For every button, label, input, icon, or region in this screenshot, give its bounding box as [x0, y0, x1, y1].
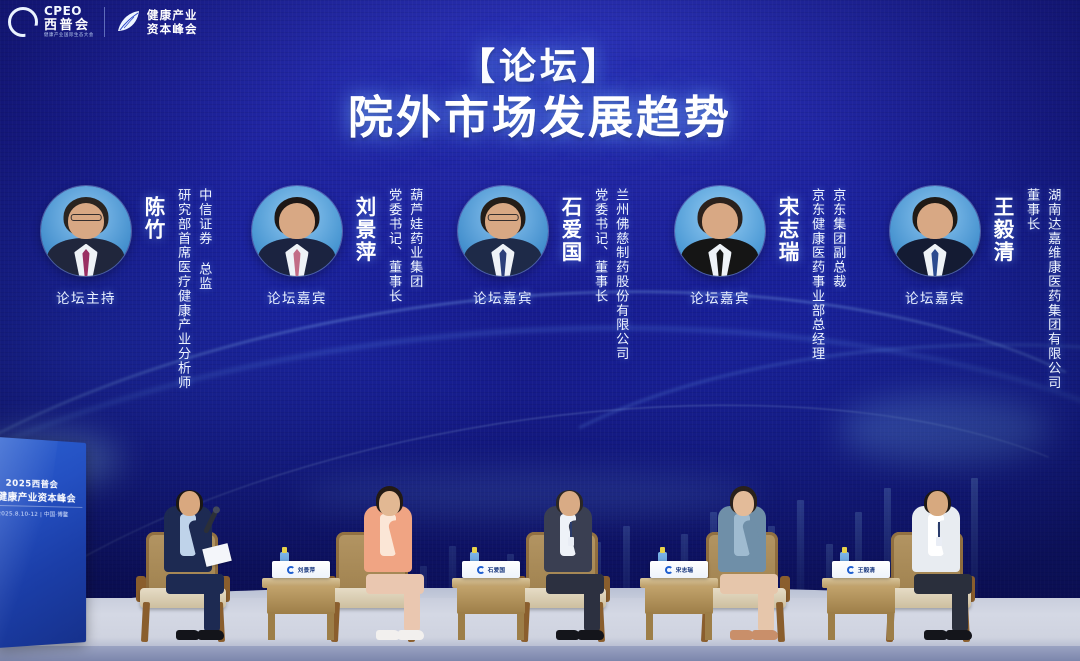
person-head	[927, 491, 948, 516]
panelist-portrait-block: 论坛嘉宾	[887, 186, 983, 307]
nameplate-name: 刘景萍	[298, 566, 315, 574]
panelist-title-line: 党委书记、董事长	[590, 188, 609, 361]
logo-summit-line1: 健康产业	[147, 8, 198, 22]
panelist-title-line: 兰州佛慈制药股份有限公司	[611, 188, 630, 361]
panelist-titles: 兰州佛慈制药股份有限公司党委书记、董事长	[588, 188, 630, 361]
panelist-portrait-block: 论坛主持	[38, 186, 134, 307]
logo-cpeo: CPEO 西普会 健康产业国际生态大会	[8, 5, 94, 38]
speaker-podium: 2025西普会 健康产业资本峰会 2025.8.10-12 | 中国·博鳌	[0, 440, 88, 645]
person-head	[179, 491, 200, 516]
person-shoe	[730, 630, 754, 640]
person-head	[559, 491, 580, 516]
person-shoe	[924, 630, 948, 640]
person-shin	[758, 590, 774, 632]
person-shoe	[752, 630, 778, 640]
person-shin	[952, 590, 968, 632]
panelist-title-line: 葫芦娃药业集团	[405, 188, 424, 303]
panelist-card-list: 论坛主持 陈竹 中信证券 总监研究部首席医疗健康产业分析师 论坛嘉宾 刘景萍 葫…	[0, 186, 1080, 436]
nameplate-logo-icon	[287, 566, 295, 574]
panelist-titles: 京东集团副总裁京东健康医药事业部总经理	[805, 188, 847, 361]
logo-summit-line2: 资本峰会	[147, 22, 198, 36]
panelist-card-1: 论坛主持 陈竹 中信证券 总监研究部首席医疗健康产业分析师	[38, 186, 213, 390]
panelist-role-label: 论坛嘉宾	[267, 287, 327, 307]
seated-panelist-1	[152, 442, 238, 642]
panelist-card-2: 论坛嘉宾 刘景萍 葫芦娃药业集团党委书记、董事长	[249, 186, 424, 307]
panelist-card-4: 论坛嘉宾 宋志瑞 京东集团副总裁京东健康医药事业部总经理	[672, 186, 847, 361]
panelist-card-3: 论坛嘉宾 石爱国 兰州佛慈制药股份有限公司党委书记、董事长	[455, 186, 630, 361]
table-nameplate: 王毅清	[832, 561, 890, 578]
panelist-name: 王毅清	[987, 196, 1017, 264]
lanyard	[938, 522, 940, 538]
cpeo-ring-logo-icon	[8, 7, 38, 37]
seated-panelist-4	[706, 442, 792, 642]
panelist-title-line: 中信证券 总监	[194, 188, 213, 390]
nameplate-logo-icon	[665, 566, 673, 574]
person-head	[733, 491, 754, 516]
panelist-role-label: 论坛嘉宾	[473, 287, 533, 307]
logo-divider	[104, 7, 105, 37]
person-shoe	[946, 630, 972, 640]
table-nameplate: 刘景萍	[272, 561, 330, 578]
panelist-portrait-block: 论坛嘉宾	[249, 186, 345, 307]
header-logo-bar: CPEO 西普会 健康产业国际生态大会 健康产业 资本峰会	[0, 0, 300, 44]
seated-panelist-3	[532, 442, 618, 642]
logo-cpeo-cn: 西普会	[44, 19, 94, 32]
panelist-role-label: 论坛嘉宾	[905, 287, 965, 307]
panelist-titles: 湖南达嘉维康医药集团有限公司董事长	[1020, 188, 1062, 390]
nameplate-logo-icon	[847, 566, 855, 574]
logo-cpeo-subtitle: 健康产业国际生态大会	[44, 34, 94, 38]
panelist-name: 石爱国	[555, 196, 585, 264]
headshot-chen-zhu-avatar	[41, 186, 131, 276]
name-badge	[936, 537, 942, 546]
person-shoe	[578, 630, 604, 640]
leaf-logo-icon	[115, 9, 141, 35]
nameplate-name: 王毅清	[858, 566, 875, 574]
panelist-title-line: 京东集团副总裁	[828, 188, 847, 361]
logo-summit: 健康产业 资本峰会	[115, 8, 198, 37]
table-nameplate: 宋志瑞	[650, 561, 708, 578]
panelist-title-line: 党委书记、董事长	[384, 188, 403, 303]
headshot-shi-aiguo-avatar	[458, 186, 548, 276]
panelist-title-line: 研究部首席医疗健康产业分析师	[173, 188, 192, 390]
logo-cpeo-en: CPEO	[44, 5, 94, 17]
person-shoe	[198, 630, 224, 640]
panelist-name: 陈竹	[138, 196, 168, 241]
panelist-role-label: 论坛主持	[56, 287, 116, 307]
forum-title-block: 【论坛】 院外市场发展趋势	[0, 44, 1080, 146]
podium-line2: 健康产业资本峰会	[0, 488, 76, 504]
headshot-liu-jingping-avatar	[252, 186, 342, 276]
name-badge	[568, 537, 574, 546]
podium-date: 2025.8.10-12 | 中国·博鳌	[0, 509, 68, 518]
podium-shine	[0, 437, 60, 648]
lanyard	[570, 522, 572, 538]
panelist-title-line: 京东健康医药事业部总经理	[807, 188, 826, 361]
seated-panelist-2	[352, 442, 438, 642]
person-shoe	[376, 630, 400, 640]
panelist-title-line: 湖南达嘉维康医药集团有限公司	[1043, 188, 1062, 390]
headshot-wang-yiqing-avatar	[890, 186, 980, 276]
person-shin	[204, 590, 220, 632]
forum-title-line1: 【论坛】	[0, 44, 1080, 90]
nameplate-name: 宋志瑞	[676, 566, 693, 574]
person-shoe	[556, 630, 580, 640]
person-head	[379, 491, 400, 516]
panelist-name: 宋志瑞	[772, 196, 802, 264]
forum-title-line2: 院外市场发展趋势	[0, 90, 1080, 146]
panelist-titles: 葫芦娃药业集团党委书记、董事长	[382, 188, 424, 303]
seated-panelist-5	[900, 442, 986, 642]
person-shoe	[176, 630, 200, 640]
nameplate-logo-icon	[477, 566, 485, 574]
person-shin	[404, 590, 420, 632]
panelist-titles: 中信证券 总监研究部首席医疗健康产业分析师	[171, 188, 213, 390]
panelist-portrait-block: 论坛嘉宾	[455, 186, 551, 307]
panelist-card-5: 论坛嘉宾 王毅清 湖南达嘉维康医药集团有限公司董事长	[887, 186, 1062, 390]
person-shoe	[398, 630, 424, 640]
table-nameplate: 石爱国	[462, 561, 520, 578]
stage-seating-area: 刘景萍 石爱国 宋志瑞 王毅清	[0, 400, 1080, 650]
nameplate-name: 石爱国	[488, 566, 505, 574]
headshot-song-zhirui-avatar	[675, 186, 765, 276]
conference-stage-photo: CPEO 西普会 健康产业国际生态大会 健康产业 资本峰会 【论坛】 院外市场发…	[0, 0, 1080, 661]
person-shin	[584, 590, 600, 632]
panelist-name: 刘景萍	[349, 196, 379, 264]
panelist-title-line: 董事长	[1022, 188, 1041, 390]
panelist-role-label: 论坛嘉宾	[690, 287, 750, 307]
panelist-portrait-block: 论坛嘉宾	[672, 186, 768, 307]
